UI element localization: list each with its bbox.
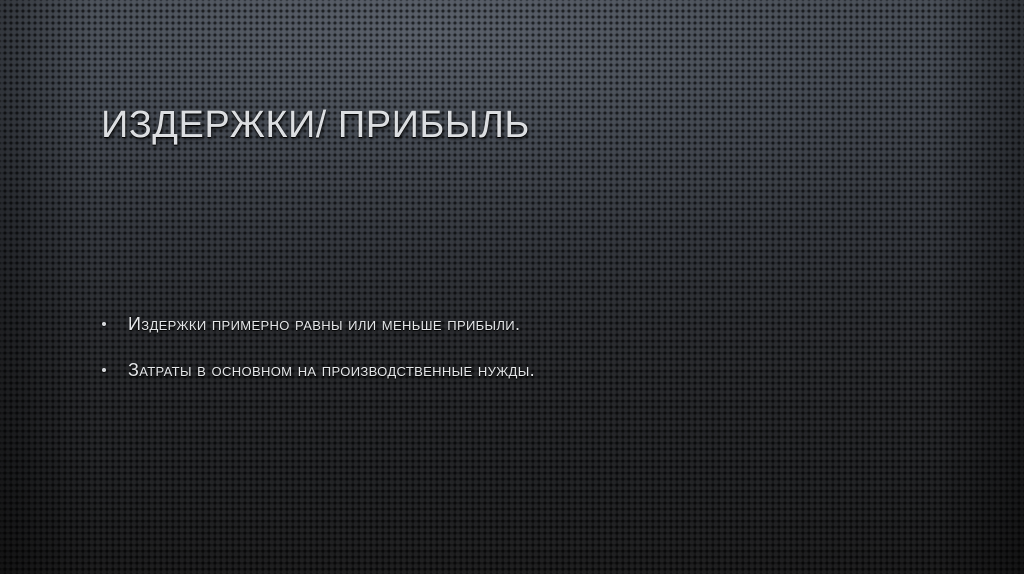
bullet-dot-icon (102, 322, 106, 326)
list-item: Издержки примерно равны или меньше прибы… (96, 312, 926, 336)
slide-bullet-list: Издержки примерно равны или меньше прибы… (96, 312, 926, 404)
bullet-dot-icon (102, 368, 106, 372)
slide-content: Издержки/ прибыль Издержки примерно равн… (0, 0, 1024, 574)
list-item-label: Издержки примерно равны или меньше прибы… (128, 314, 520, 334)
list-item: Затраты в основном на производственные н… (96, 358, 926, 382)
presentation-slide: Издержки/ прибыль Издержки примерно равн… (0, 0, 1024, 574)
slide-title: Издержки/ прибыль (101, 103, 921, 147)
list-item-label: Затраты в основном на производственные н… (128, 360, 535, 380)
